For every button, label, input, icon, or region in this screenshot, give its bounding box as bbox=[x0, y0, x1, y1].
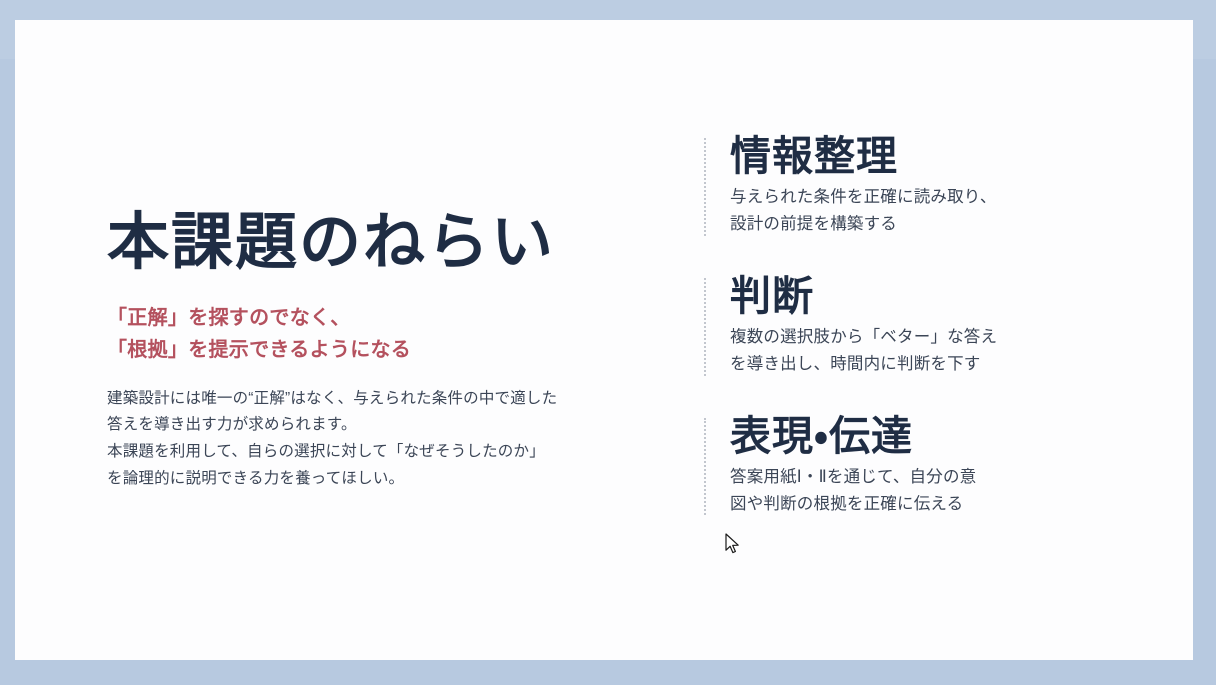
pillar-description-line-1: 答案用紙Ⅰ・Ⅱを通じて、自分の意 bbox=[730, 464, 1104, 491]
pillar-heading: 情報整理 bbox=[730, 132, 1104, 180]
pillar-description: 答案用紙Ⅰ・Ⅱを通じて、自分の意 図や判断の根拠を正確に伝える bbox=[730, 464, 1104, 517]
slide-frame: 本課題のねらい 「正解」を探すのでなく、 「根拠」を提示できるようになる 建築設… bbox=[0, 0, 1216, 685]
slide-canvas: 本課題のねらい 「正解」を探すのでなく、 「根拠」を提示できるようになる 建築設… bbox=[15, 20, 1193, 660]
intro-paragraph-line-1: 建築設計には唯一の“正解”はなく、与えられた条件の中で適した bbox=[107, 386, 627, 413]
slide-body: 本課題のねらい 「正解」を探すのでなく、 「根拠」を提示できるようになる 建築設… bbox=[15, 20, 1193, 660]
dotted-rule-icon bbox=[704, 138, 706, 236]
pillar-description-line-2: 図や判断の根拠を正確に伝える bbox=[730, 491, 1104, 518]
right-column: 情報整理 与えられた条件を正確に読み取り、 設計の前提を構築する 判断 複数の選… bbox=[704, 132, 1104, 517]
pillar-description: 複数の選択肢から「ベター」な答え を導き出し、時間内に判断を下す bbox=[730, 324, 1104, 377]
pillar-description-line-1: 複数の選択肢から「ベター」な答え bbox=[730, 324, 1104, 351]
pillar-information-organization: 情報整理 与えられた条件を正確に読み取り、 設計の前提を構築する bbox=[704, 132, 1104, 238]
intro-paragraph-line-3: 本課題を利用して、自らの選択に対して「なぜそうしたのか」 bbox=[107, 439, 627, 466]
intro-paragraph-line-2: 答えを導き出す力が求められます。 bbox=[107, 412, 627, 439]
lead-statement-line-2: 「根拠」を提示できるようになる bbox=[107, 335, 627, 366]
pillar-description-line-2: 設計の前提を構築する bbox=[730, 211, 1104, 238]
pillar-judgement: 判断 複数の選択肢から「ベター」な答え を導き出し、時間内に判断を下す bbox=[704, 272, 1104, 378]
intro-paragraph: 建築設計には唯一の“正解”はなく、与えられた条件の中で適した 答えを導き出す力が… bbox=[107, 386, 627, 493]
dotted-rule-icon bbox=[704, 418, 706, 516]
pillar-expression-communication: 表現・伝達 答案用紙Ⅰ・Ⅱを通じて、自分の意 図や判断の根拠を正確に伝える bbox=[704, 412, 1104, 518]
lead-statement: 「正解」を探すのでなく、 「根拠」を提示できるようになる bbox=[107, 303, 627, 365]
left-column: 本課題のねらい 「正解」を探すのでなく、 「根拠」を提示できるようになる 建築設… bbox=[107, 208, 627, 492]
pillar-description: 与えられた条件を正確に読み取り、 設計の前提を構築する bbox=[730, 184, 1104, 237]
pillar-heading: 判断 bbox=[730, 272, 1104, 320]
page-title: 本課題のねらい bbox=[107, 208, 627, 277]
pillar-description-line-1: 与えられた条件を正確に読み取り、 bbox=[730, 184, 1104, 211]
pillar-description-line-2: を導き出し、時間内に判断を下す bbox=[730, 351, 1104, 378]
intro-paragraph-line-4: を論理的に説明できる力を養ってほしい。 bbox=[107, 466, 627, 493]
pillar-heading: 表現・伝達 bbox=[730, 412, 1104, 460]
dotted-rule-icon bbox=[704, 278, 706, 376]
lead-statement-line-1: 「正解」を探すのでなく、 bbox=[107, 303, 627, 334]
